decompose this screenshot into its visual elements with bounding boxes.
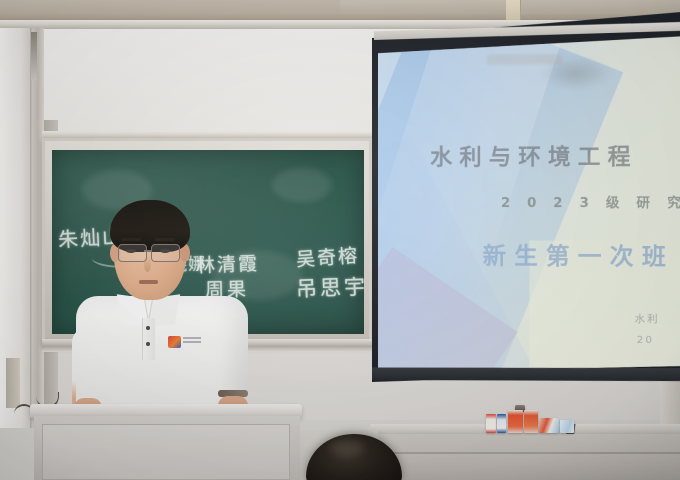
shirt-placket [142, 318, 155, 360]
counter-seam [374, 452, 680, 454]
presenter-nose [144, 256, 151, 272]
slide-surface: 水利与环境工程 2 0 2 3 级 研 究 新生第一次班 水利 20 [378, 36, 680, 376]
glasses-bridge [144, 250, 152, 252]
counter-body [374, 434, 680, 480]
eyebrow-right [155, 238, 175, 241]
presenter-mouth [139, 280, 158, 284]
classroom-photo: 朱灿山 晓娜 林清霞 周果 吴奇榕 吊思宇 水利与环境工程 2 0 2 3 级 … [0, 0, 680, 480]
glasses-lens-right [151, 244, 180, 262]
desk-item-1 [486, 414, 496, 433]
chalk-note-6: 吊思宇 [295, 271, 368, 303]
desk-item-3 [508, 410, 523, 433]
slide-date-line: 20 [637, 335, 654, 346]
desk-item-2 [497, 414, 506, 433]
slide-title: 水利与环境工程 [430, 139, 638, 172]
shirt-button-2 [146, 342, 150, 346]
lectern-front-panel [42, 424, 290, 480]
chalk-note-5: 吴奇榕 [295, 241, 360, 272]
glasses-lens-left [118, 244, 147, 262]
projection-screen: 水利与环境工程 2 0 2 3 级 研 究 新生第一次班 水利 20 [372, 12, 680, 387]
foreground-attendee-highlight [330, 440, 364, 456]
desk-item-4 [524, 410, 538, 433]
desk-item-6 [560, 420, 574, 433]
shirt-button-1 [146, 326, 150, 330]
screen-mount-bracket [6, 358, 20, 408]
eyebrow-left [121, 238, 141, 241]
university-emblem-icon [168, 336, 181, 348]
desk-item-5 [539, 418, 559, 433]
presenter [72, 200, 252, 425]
emblem-text [183, 337, 201, 345]
slide-subtitle: 2 0 2 3 级 研 究 [501, 192, 680, 211]
slide-headline: 新生第一次班 [483, 236, 675, 271]
wall-cable-top [31, 32, 37, 80]
slide-org-line: 水利 [635, 310, 660, 326]
pillar-groove [30, 28, 33, 428]
